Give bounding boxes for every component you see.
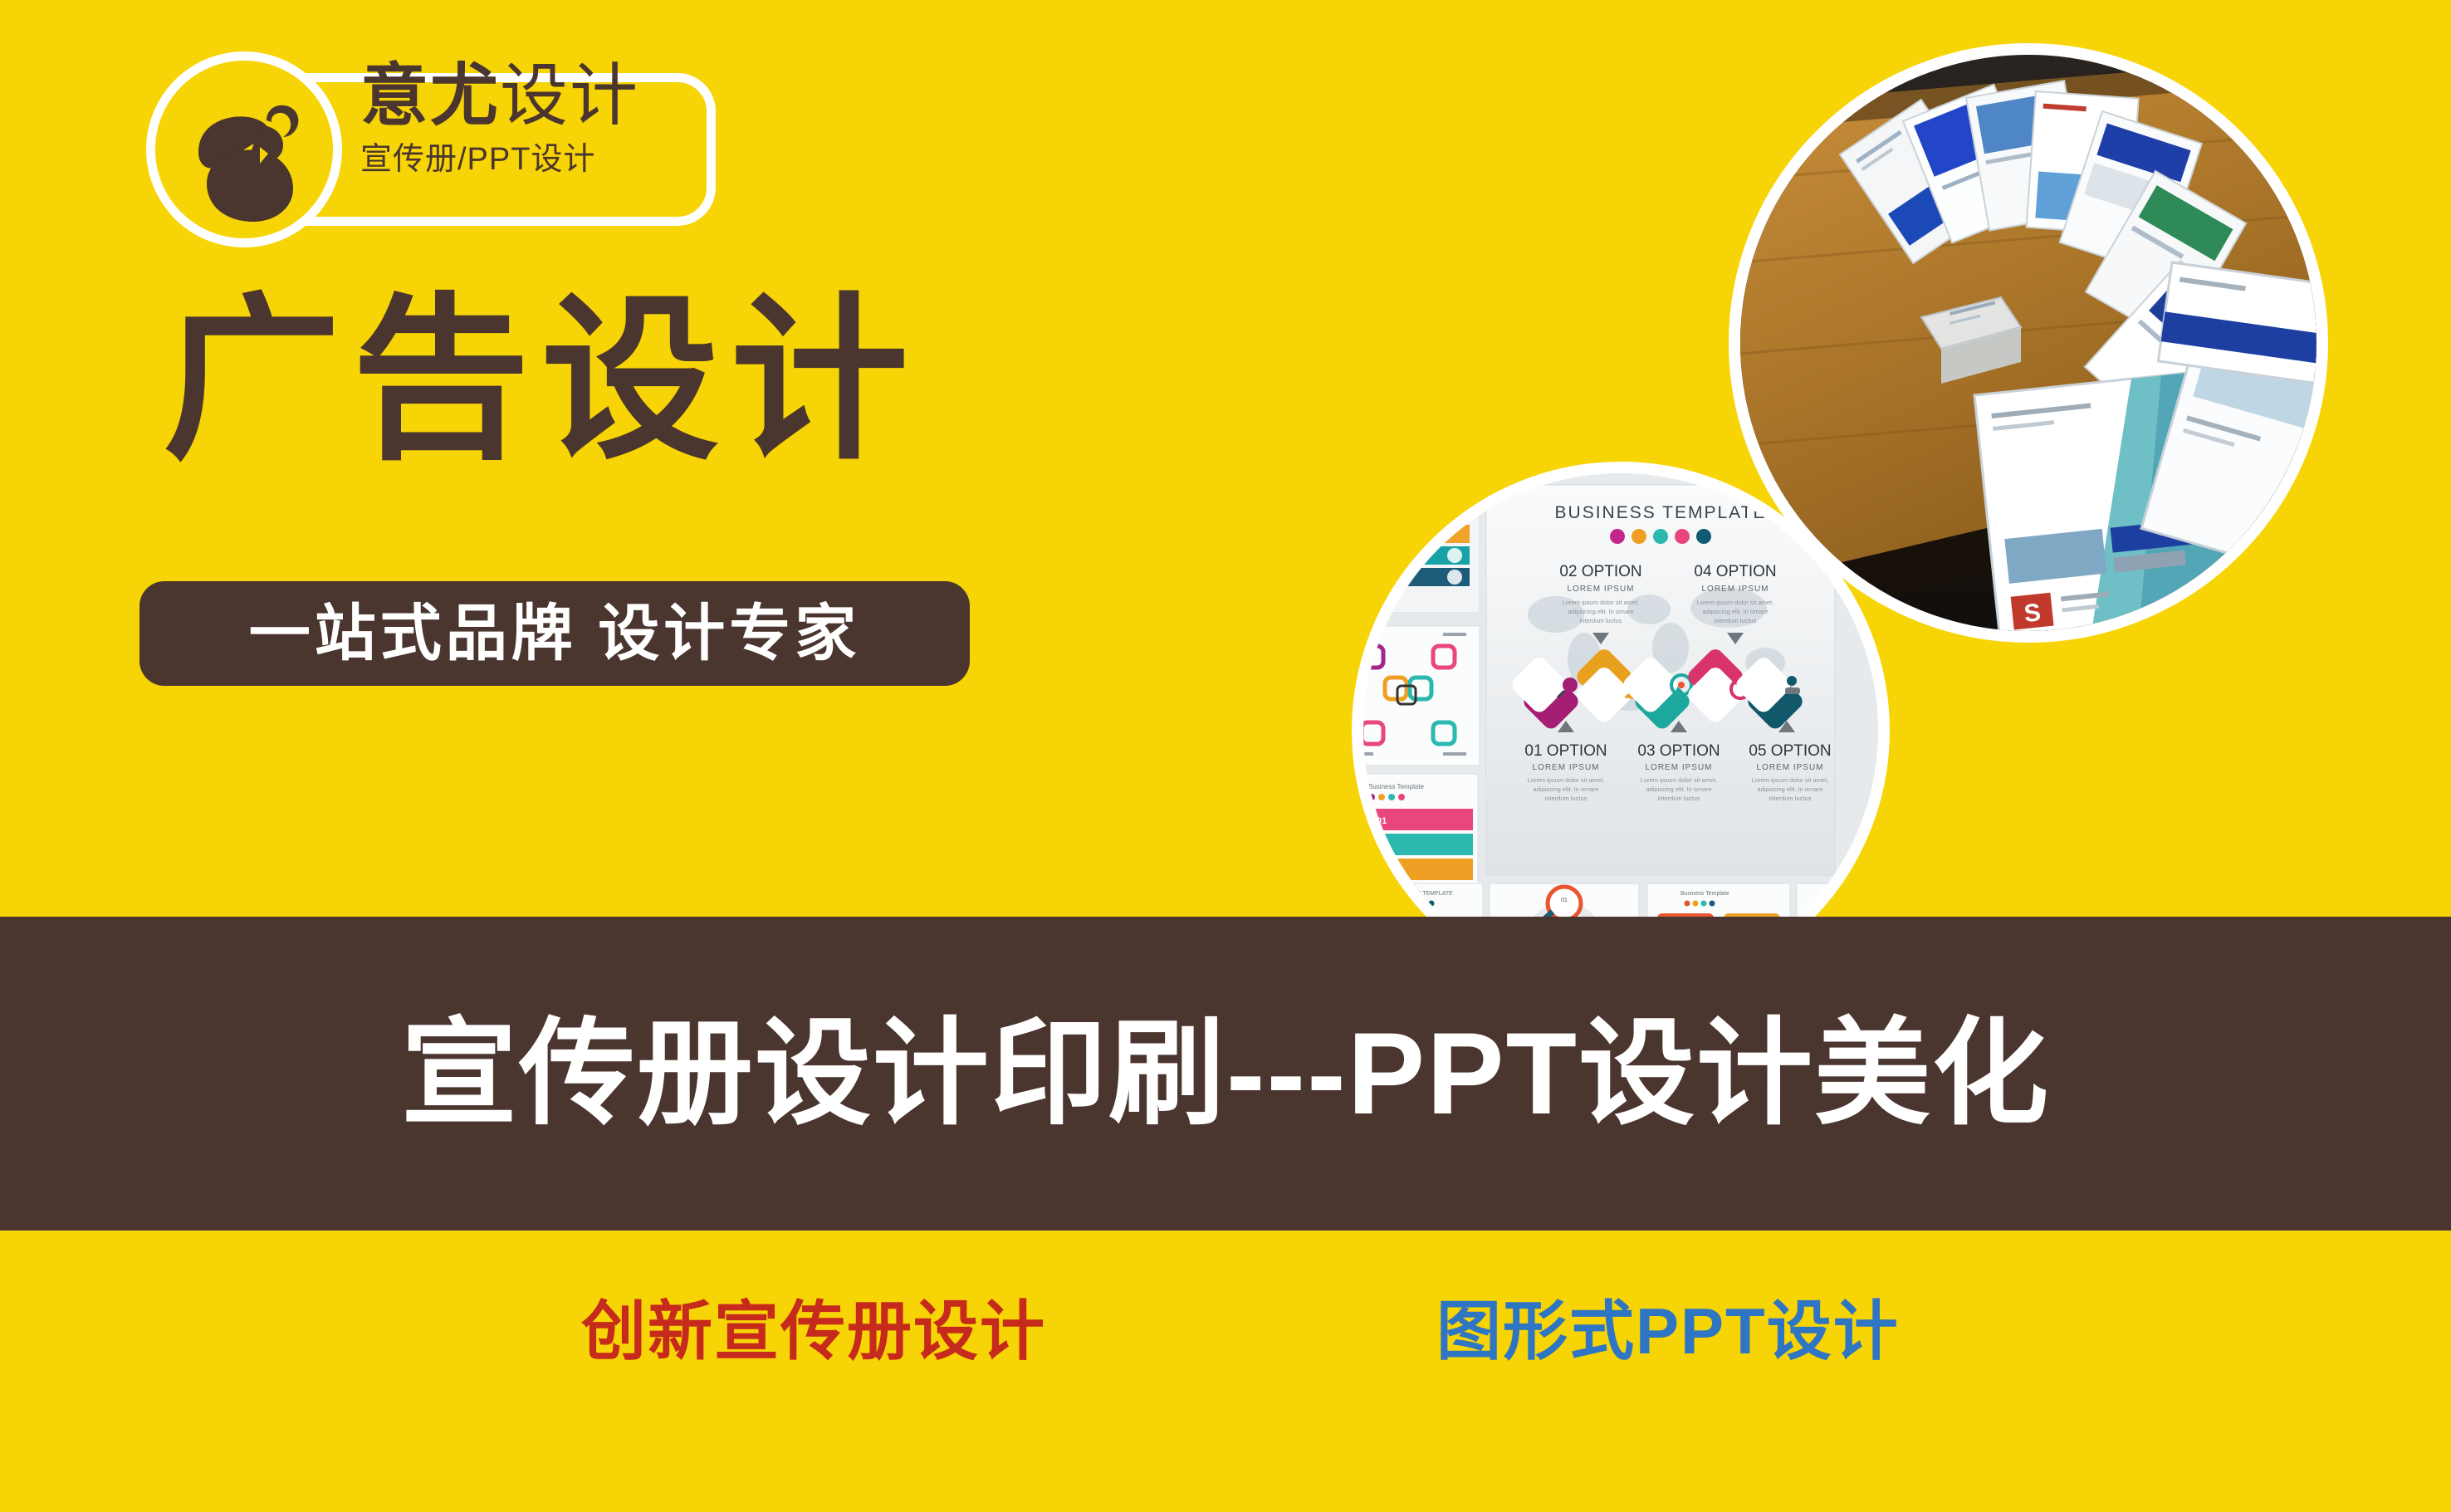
bird-leaf-mark-icon bbox=[177, 82, 330, 235]
poster-canvas: 意尤设计 宣传册/PPT设计 广告设计 一站式品牌 设计专家 bbox=[0, 0, 2451, 1512]
svg-text:Lorem ipsum dolor sit amet,: Lorem ipsum dolor sit amet, bbox=[1641, 776, 1718, 784]
banner-strip: 宣传册设计印刷---PPT设计美化 bbox=[0, 917, 2451, 1231]
svg-text:02: 02 bbox=[1370, 841, 1380, 851]
svg-text:Lorem ipsum dolor sit amet,: Lorem ipsum dolor sit amet, bbox=[1697, 599, 1774, 606]
logo-name: 意尤设计 bbox=[360, 56, 717, 136]
logo-name-thin: 设计 bbox=[500, 58, 639, 134]
svg-text:01 OPTION: 01 OPTION bbox=[1524, 742, 1607, 760]
banner-strip-label: 宣传册设计印刷---PPT设计美化 bbox=[401, 1011, 2050, 1136]
svg-text:Lorem ipsum dolor sit amet,: Lorem ipsum dolor sit amet, bbox=[1528, 776, 1605, 784]
svg-text:05 OPTION: 05 OPTION bbox=[1749, 742, 1831, 760]
svg-text:interdum luctus: interdum luctus bbox=[1715, 617, 1757, 624]
svg-text:BUSINESS TEMPLATE: BUSINESS TEMPLATE bbox=[1555, 503, 1767, 522]
svg-text:adipiscing elit. In ornare: adipiscing elit. In ornare bbox=[1702, 608, 1768, 615]
logo-subtitle: 宣传册/PPT设计 bbox=[360, 139, 717, 179]
svg-text:interdum luctus: interdum luctus bbox=[1580, 617, 1622, 624]
svg-text:interdum luctus: interdum luctus bbox=[1545, 795, 1588, 802]
svg-text:LOREM IPSUM: LOREM IPSUM bbox=[1701, 585, 1769, 594]
svg-text:01: 01 bbox=[1561, 898, 1568, 903]
svg-text:S: S bbox=[2023, 599, 2042, 628]
page-title: 广告设计 bbox=[163, 292, 920, 470]
logo-name-bold: 意尤 bbox=[360, 58, 500, 134]
svg-text:BUSINESS TEMPLATE: BUSINESS TEMPLATE bbox=[1392, 891, 1453, 897]
svg-text:04 OPTION: 04 OPTION bbox=[1694, 563, 1776, 580]
svg-text:adipiscing elit. In ornare: adipiscing elit. In ornare bbox=[1646, 785, 1711, 793]
svg-text:LOREM IPSUM: LOREM IPSUM bbox=[1645, 763, 1712, 772]
svg-text:03 OPTION: 03 OPTION bbox=[1637, 742, 1720, 760]
svg-text:01: 01 bbox=[1377, 816, 1387, 826]
svg-text:interdum luctus: interdum luctus bbox=[1769, 795, 1812, 802]
logo-circle-outline bbox=[146, 51, 342, 247]
svg-text:interdum luctus: interdum luctus bbox=[1658, 795, 1700, 802]
svg-text:adipiscing elit. In ornare: adipiscing elit. In ornare bbox=[1568, 608, 1633, 615]
svg-text:Business Template: Business Template bbox=[1680, 891, 1729, 897]
logo-text-block: 意尤设计 宣传册/PPT设计 bbox=[360, 56, 717, 179]
svg-text:adipiscing elit. In ornare: adipiscing elit. In ornare bbox=[1757, 785, 1822, 793]
svg-text:LOREM IPSUM: LOREM IPSUM bbox=[1567, 585, 1634, 594]
tagline-left: 创新宣传册设计 bbox=[581, 1295, 1046, 1367]
ppt-templates-photo-inner: Business Template 0102 0304 bbox=[1363, 473, 1878, 988]
svg-text:LOREM IPSUM: LOREM IPSUM bbox=[1756, 763, 1823, 772]
svg-text:Lorem ipsum dolor sit amet,: Lorem ipsum dolor sit amet, bbox=[1563, 599, 1640, 606]
tagline-pill-label: 一站式品牌 设计专家 bbox=[249, 603, 861, 664]
svg-text:LOREM IPSUM: LOREM IPSUM bbox=[1532, 763, 1599, 772]
svg-text:Lorem ipsum dolor sit amet,: Lorem ipsum dolor sit amet, bbox=[1752, 776, 1829, 784]
brand-logo: 意尤设计 宣传册/PPT设计 bbox=[146, 51, 727, 251]
svg-text:Business: Business bbox=[1830, 891, 1854, 897]
svg-text:02 OPTION: 02 OPTION bbox=[1559, 563, 1641, 580]
tagline-right: 图形式PPT设计 bbox=[1436, 1295, 1900, 1367]
tagline-pill: 一站式品牌 设计专家 bbox=[139, 581, 970, 686]
svg-text:adipiscing elit. In ornare: adipiscing elit. In ornare bbox=[1533, 785, 1598, 793]
svg-text:03: 03 bbox=[1363, 866, 1373, 876]
svg-text:Business Template: Business Template bbox=[1368, 783, 1425, 790]
